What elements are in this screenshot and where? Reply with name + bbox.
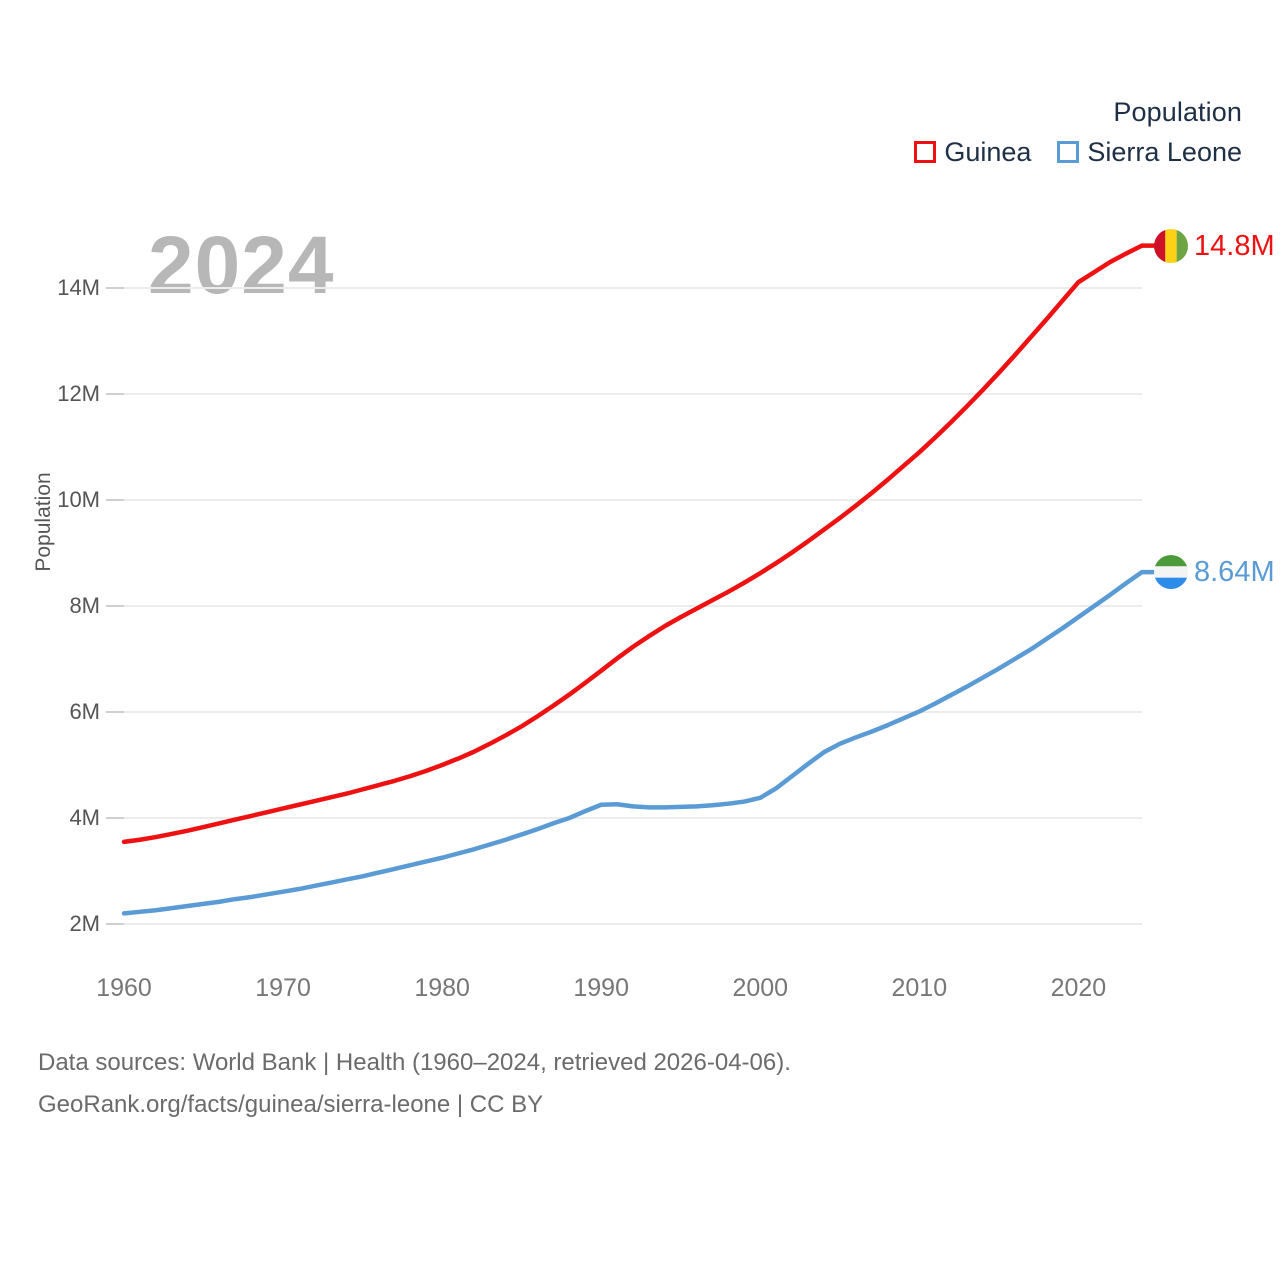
y-axis-title: Population xyxy=(32,452,56,592)
legend-label-guinea: Guinea xyxy=(944,137,1031,167)
footer-attribution-line: GeoRank.org/facts/guinea/sierra-leone | … xyxy=(38,1084,791,1126)
chart-footer: Data sources: World Bank | Health (1960–… xyxy=(38,1042,791,1126)
x-tick-label: 1990 xyxy=(541,975,661,1001)
series-line-guinea xyxy=(124,246,1142,842)
x-tick-label: 1960 xyxy=(64,975,184,1001)
leader-lines xyxy=(1142,246,1158,572)
legend-swatch-guinea xyxy=(914,141,936,163)
end-value-guinea: 14.8M xyxy=(1194,230,1275,262)
end-value-sierra-leone: 8.64M xyxy=(1194,556,1275,588)
legend-label-sierra-leone: Sierra Leone xyxy=(1087,137,1242,167)
chart-legend: Population Guinea Sierra Leone xyxy=(914,96,1242,167)
y-tick-label: 14M xyxy=(10,277,100,299)
end-label-guinea: 14.8M xyxy=(1154,229,1275,263)
sierra-leone-flag-icon xyxy=(1154,555,1188,589)
x-tick-label: 2020 xyxy=(1018,975,1138,1001)
y-tick-label: 8M xyxy=(10,595,100,617)
legend-item-guinea[interactable]: Guinea xyxy=(914,137,1031,167)
y-tick-label: 12M xyxy=(10,383,100,405)
series-paths xyxy=(124,246,1142,914)
guinea-flag-icon xyxy=(1154,229,1188,263)
legend-swatch-sierra-leone xyxy=(1057,141,1079,163)
legend-title: Population xyxy=(914,96,1242,128)
footer-sources-line: Data sources: World Bank | Health (1960–… xyxy=(38,1042,791,1084)
legend-items: Guinea Sierra Leone xyxy=(914,137,1242,167)
x-tick-label: 1980 xyxy=(382,975,502,1001)
population-line-chart: Population Guinea Sierra Leone 2024 Popu… xyxy=(0,0,1280,1280)
y-tick-label: 6M xyxy=(10,701,100,723)
axis-tick-marks xyxy=(106,288,124,924)
x-tick-label: 1970 xyxy=(223,975,343,1001)
gridlines xyxy=(124,288,1142,924)
legend-item-sierra-leone[interactable]: Sierra Leone xyxy=(1057,137,1242,167)
end-label-sierra-leone: 8.64M xyxy=(1154,555,1275,589)
y-tick-label: 10M xyxy=(10,489,100,511)
y-tick-label: 4M xyxy=(10,807,100,829)
y-tick-label: 2M xyxy=(10,913,100,935)
x-tick-label: 2010 xyxy=(859,975,979,1001)
series-line-sierra-leone xyxy=(124,572,1142,913)
x-tick-label: 2000 xyxy=(700,975,820,1001)
year-watermark: 2024 xyxy=(148,222,334,310)
